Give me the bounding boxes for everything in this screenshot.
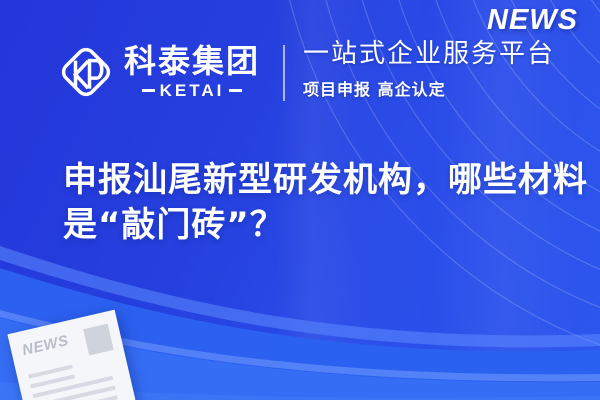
- wordmark-rule-left: [142, 89, 155, 92]
- brand-name-en-row: KETAI: [142, 82, 243, 99]
- headline-line-2: 是“敲门砖”？: [63, 203, 575, 248]
- brand-name-en: KETAI: [160, 82, 225, 99]
- headline-line-1: 申报汕尾新型研发机构，哪些材料: [63, 158, 575, 203]
- ketai-diamond-monogram-icon: [58, 43, 114, 101]
- news-banner: NEWS: [0, 0, 600, 400]
- slogan-secondary: 项目申报 高企认定: [303, 76, 555, 100]
- headline: 申报汕尾新型研发机构，哪些材料 是“敲门砖”？: [63, 158, 575, 248]
- brand-logo[interactable]: 科泰集团 KETAI: [58, 43, 260, 101]
- newspaper-thumbnail-block: [83, 324, 113, 356]
- header-divider: [283, 45, 285, 101]
- slogan-primary: 一站式企业服务平台: [303, 40, 555, 69]
- banner-header: NEWS: [0, 0, 600, 130]
- wordmark-rule-right: [229, 89, 242, 92]
- newspaper-title: NEWS: [21, 332, 71, 359]
- news-badge: NEWS: [487, 4, 578, 37]
- slogan-block: 一站式企业服务平台 项目申报 高企认定: [303, 40, 555, 100]
- brand-name-cn: 科泰集团: [124, 45, 260, 77]
- brand-wordmark: 科泰集团 KETAI: [124, 45, 260, 99]
